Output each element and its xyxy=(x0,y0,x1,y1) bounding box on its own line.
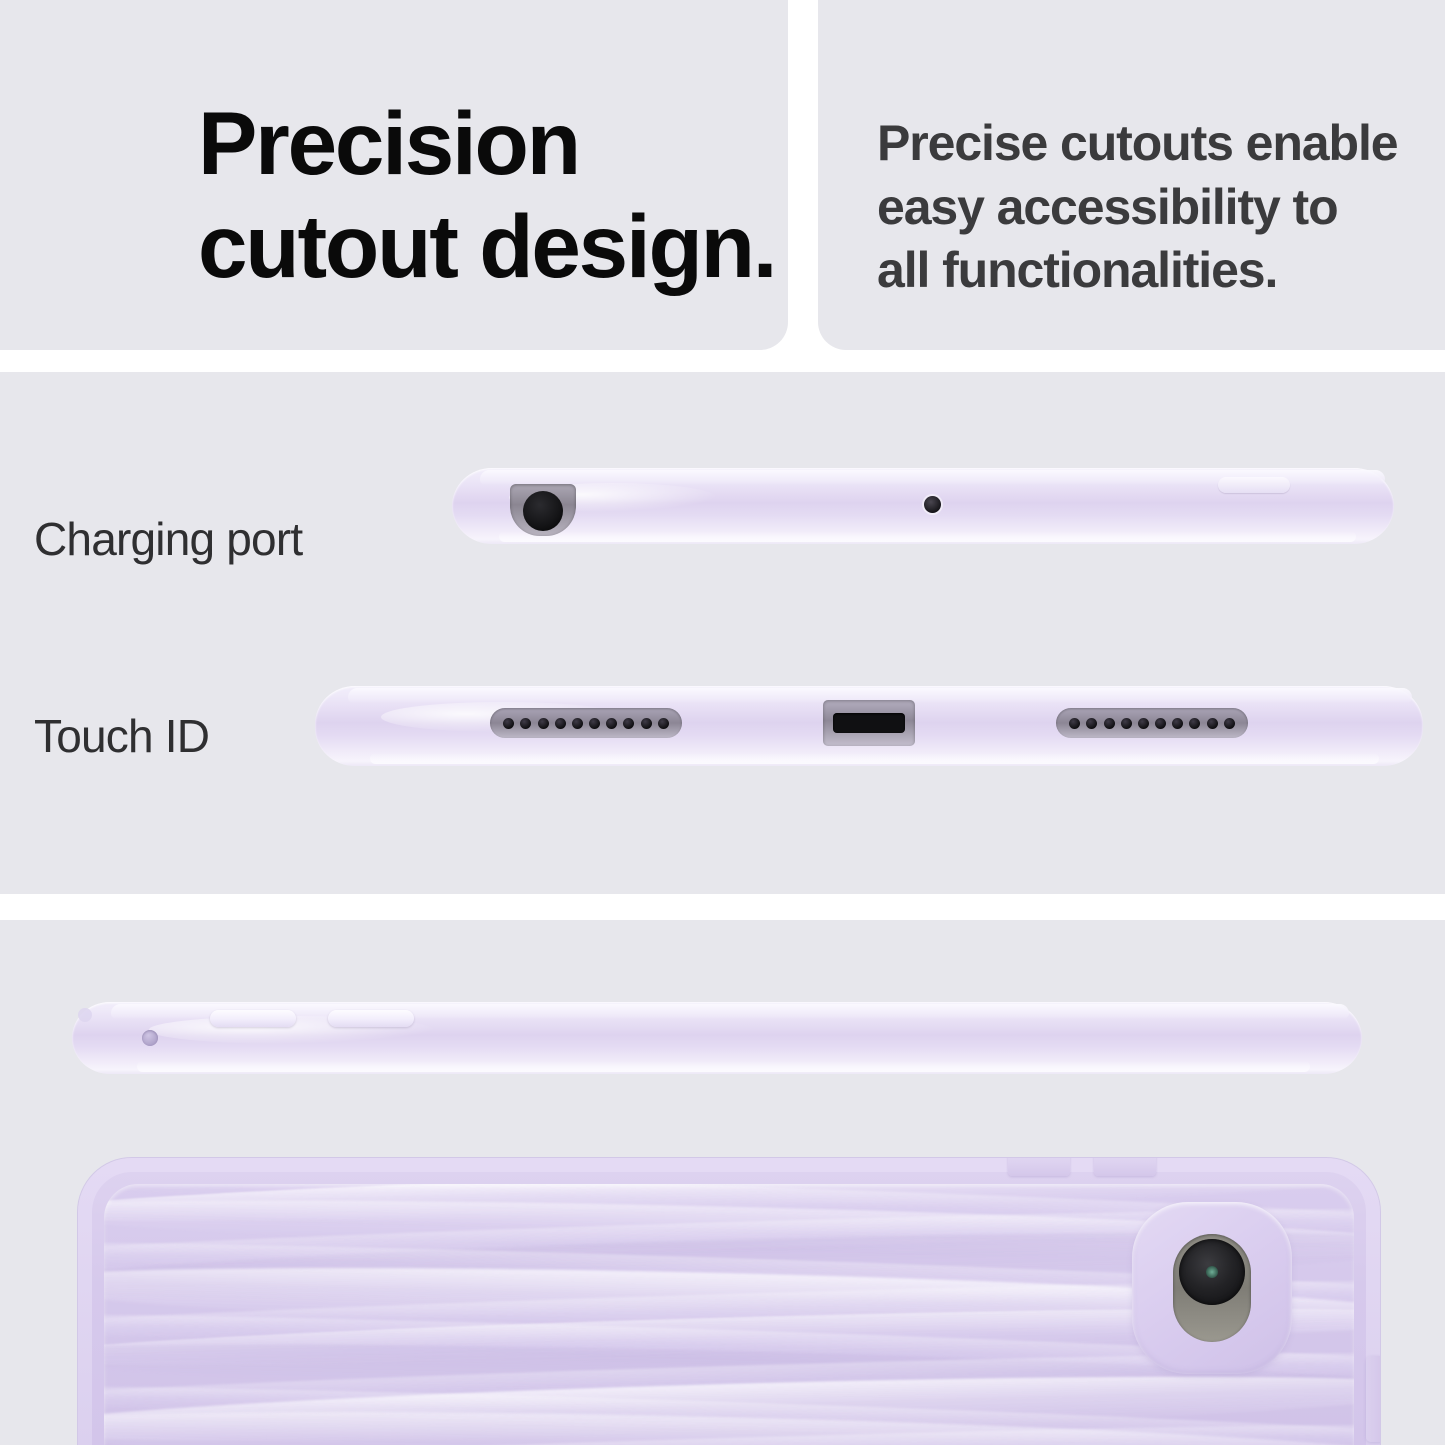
camera-module-icon xyxy=(1173,1234,1251,1342)
camera-cutout-icon xyxy=(510,484,576,536)
product-feature-page: Precision cutout design. Precise cutouts… xyxy=(0,0,1445,1445)
speaker-grille-left-icon xyxy=(490,708,682,738)
edge-lower-highlight xyxy=(499,531,1356,542)
speaker-hole xyxy=(1104,718,1115,729)
camera-lens-icon xyxy=(523,491,563,531)
speaker-hole xyxy=(1207,718,1218,729)
speaker-hole xyxy=(1172,718,1183,729)
cutouts-panel xyxy=(0,372,1445,894)
speaker-hole xyxy=(520,718,531,729)
device-bottom-edge-view xyxy=(315,686,1423,766)
charging-port-cutout-icon xyxy=(823,700,915,746)
speaker-hole xyxy=(1069,718,1080,729)
speaker-hole xyxy=(1224,718,1235,729)
speaker-hole xyxy=(1121,718,1132,729)
speaker-hole xyxy=(589,718,600,729)
speaker-hole xyxy=(1189,718,1200,729)
speaker-hole xyxy=(1155,718,1166,729)
device-top-edge-view xyxy=(452,468,1394,544)
speaker-hole xyxy=(658,718,669,729)
volume-up-button xyxy=(210,1010,296,1027)
page-title: Precision cutout design. xyxy=(198,92,798,298)
speaker-hole xyxy=(503,718,514,729)
callout-label-charging-port: Charging port xyxy=(34,512,302,566)
microphone-hole-icon xyxy=(142,1030,158,1046)
speaker-hole xyxy=(572,718,583,729)
case-power-button xyxy=(1366,1356,1380,1442)
device-side-edge-view xyxy=(72,1002,1362,1074)
microphone-hole-icon xyxy=(924,496,941,513)
speaker-grille-right-icon xyxy=(1056,708,1248,738)
speaker-hole xyxy=(623,718,634,729)
edge-lower-highlight xyxy=(370,753,1378,764)
speaker-hole xyxy=(1138,718,1149,729)
speaker-hole xyxy=(538,718,549,729)
speaker-hole xyxy=(606,718,617,729)
speaker-hole xyxy=(555,718,566,729)
case-volume-down-button xyxy=(1094,1158,1156,1176)
edge-corner-notch xyxy=(78,1008,92,1022)
volume-down-button xyxy=(328,1010,414,1027)
speaker-hole xyxy=(1086,718,1097,729)
camera-housing-cutout xyxy=(1132,1202,1292,1374)
callout-label-touch-id: Touch ID xyxy=(34,709,209,763)
case-back-view xyxy=(78,1158,1380,1445)
case-volume-up-button xyxy=(1008,1158,1070,1176)
speaker-hole xyxy=(641,718,652,729)
subhead-text: Precise cutouts enable easy accessibilit… xyxy=(877,112,1445,303)
edge-lower-highlight xyxy=(137,1061,1311,1072)
camera-lens-icon xyxy=(1179,1239,1245,1305)
power-button xyxy=(1218,477,1290,493)
